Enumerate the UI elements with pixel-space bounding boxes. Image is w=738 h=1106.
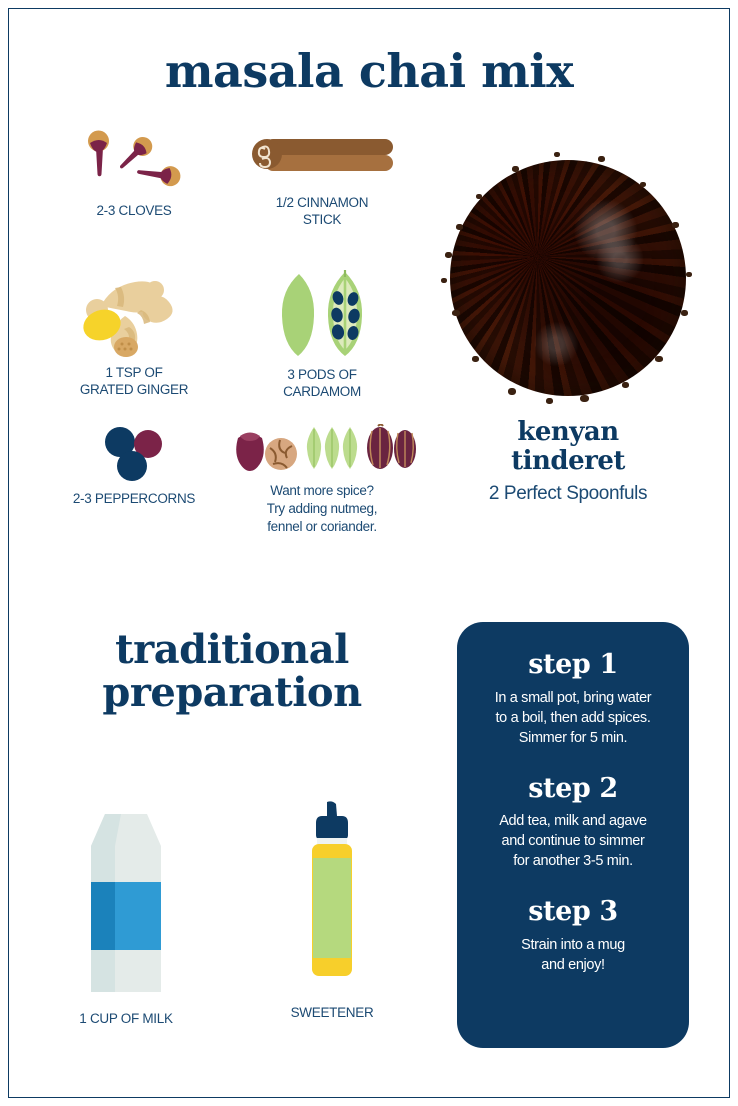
- sweetener-bottle-icon: [300, 800, 364, 990]
- extra-spice-note: Want more spice? Try adding nutmeg, fenn…: [216, 424, 428, 535]
- peppercorns-icon: [96, 424, 172, 484]
- cinnamon-stick-icon: [249, 128, 395, 188]
- ingredient-milk: 1 CUP OF MILK: [46, 800, 206, 1027]
- ingredient-sweetener: SWEETENER: [252, 800, 412, 1021]
- step-item: step 2 Add tea, milk and agave and conti…: [473, 774, 673, 872]
- chai-recipe-poster: masala chai mix: [0, 0, 738, 1106]
- tea-feature: kenyan tinderet 2 Perfect Spoonfuls: [432, 160, 704, 505]
- ingredient-ginger: 1 TSP OF GRATED GINGER: [34, 268, 234, 399]
- tea-amount: 2 Perfect Spoonfuls: [432, 483, 704, 505]
- cardamom-pods-icon: [267, 268, 377, 360]
- step-item: step 3 Strain into a mug and enjoy!: [473, 897, 673, 975]
- step-heading: step 2: [473, 774, 673, 804]
- extra-spice-text: Want more spice? Try adding nutmeg, fenn…: [216, 482, 428, 535]
- extra-spices-icon: [228, 424, 416, 472]
- step-body: Strain into a mug and enjoy!: [473, 935, 673, 975]
- ingredient-label: 3 PODS OF CARDAMOM: [216, 366, 428, 401]
- cloves-icon: [74, 128, 194, 196]
- ingredient-cinnamon: 1/2 CINNAMON STICK: [216, 128, 428, 229]
- section-title-preparation: traditional preparation: [32, 628, 432, 714]
- ingredient-label: 1/2 CINNAMON STICK: [216, 194, 428, 229]
- ingredient-cloves: 2-3 CLOVES: [34, 128, 234, 219]
- ingredient-label: 1 TSP OF GRATED GINGER: [34, 364, 234, 399]
- step-item: step 1 In a small pot, bring water to a …: [473, 650, 673, 748]
- milk-carton-icon: [83, 800, 169, 996]
- tea-name: kenyan tinderet: [432, 418, 704, 476]
- page-title: masala chai mix: [0, 48, 738, 94]
- ingredient-cardamom: 3 PODS OF CARDAMOM: [216, 268, 428, 401]
- step-heading: step 1: [473, 650, 673, 680]
- tea-leaves-photo: [450, 160, 686, 396]
- ingredient-label: 2-3 CLOVES: [34, 202, 234, 219]
- step-heading: step 3: [473, 897, 673, 927]
- ingredient-label: 2-3 PEPPERCORNS: [34, 490, 234, 507]
- steps-panel: step 1 In a small pot, bring water to a …: [457, 622, 689, 1048]
- ginger-root-icon: [73, 268, 195, 358]
- ingredient-label: SWEETENER: [252, 1004, 412, 1021]
- ingredient-label: 1 CUP OF MILK: [46, 1010, 206, 1027]
- ingredient-peppercorns: 2-3 PEPPERCORNS: [34, 424, 234, 507]
- step-body: In a small pot, bring water to a boil, t…: [473, 688, 673, 748]
- tea-disc: [450, 160, 686, 396]
- step-body: Add tea, milk and agave and continue to …: [473, 811, 673, 871]
